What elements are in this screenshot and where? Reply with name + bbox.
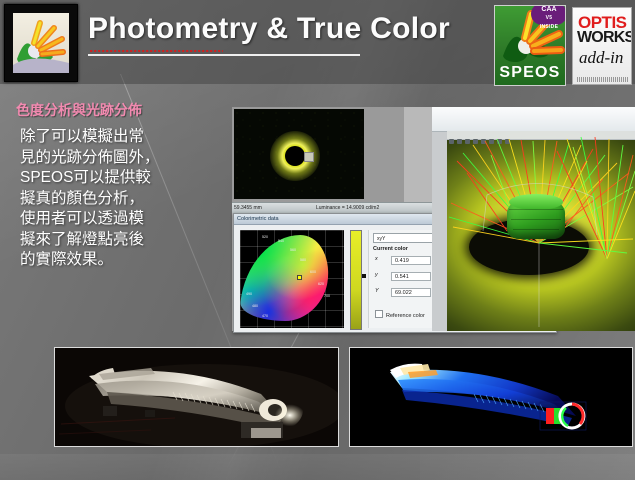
- current-color-label: Current color: [373, 246, 408, 252]
- led-dome-top: [509, 194, 563, 210]
- speos-wordmark: SPEOS: [495, 64, 565, 82]
- dome-facet: [511, 219, 561, 220]
- caa-badge-main: CAA: [541, 6, 556, 13]
- color-row-key: x: [375, 256, 378, 262]
- ray-pane-titlebar: [432, 107, 635, 132]
- body-line: 擬來了解燈點亮後: [20, 230, 205, 251]
- page-title: Photometry & True Color: [88, 12, 468, 46]
- color-space-value: xyY: [377, 236, 385, 242]
- caa-badge-sub: INSIDE: [531, 23, 566, 32]
- false-color-render-image: [350, 348, 632, 446]
- color-row-value[interactable]: 0.541: [391, 272, 431, 281]
- dome-facet: [509, 209, 563, 210]
- cie-wavelength-label: 490: [246, 292, 252, 296]
- cie-wavelength-label: 520: [262, 235, 268, 239]
- luminance-core: [285, 146, 305, 166]
- slide: Photometry & True Color SPEOS CAAV5INSID…: [0, 0, 635, 480]
- speos-logo: SPEOS CAAV5INSIDE: [494, 5, 566, 86]
- cie-wavelength-label: 700: [324, 294, 330, 298]
- luminance-false-color-view: [234, 109, 364, 199]
- cie-wavelength-label: 600: [310, 270, 316, 274]
- addin-wordmark: add-in: [579, 48, 623, 68]
- caa-badge-sup: V5: [531, 14, 566, 23]
- cie-wavelength-label: 580: [300, 258, 306, 262]
- speos-app-icon: [13, 13, 69, 73]
- speos-app-icon-glyph: [13, 13, 69, 73]
- status-position: 59.3455 mm: [234, 203, 262, 213]
- 3d-ray-trace-pane: [432, 107, 635, 331]
- checkbox-icon[interactable]: [375, 310, 383, 318]
- body-line: 使用者可以透過模: [20, 209, 205, 230]
- cie-wavelength-label: 620: [318, 282, 324, 286]
- optis-works-logo: OPTIS WORKS add-in: [572, 7, 632, 85]
- cie-wavelength-label: 470: [262, 314, 268, 318]
- optis-fineprint: [577, 77, 629, 82]
- body-line: 擬真的顏色分析，: [20, 189, 205, 210]
- true-color-render-image: [55, 348, 338, 446]
- luminance-pane: [232, 107, 404, 202]
- body-line: SPEOS可以提供較: [20, 168, 205, 189]
- section-subheading: 色度分析與光跡分佈: [16, 100, 142, 120]
- status-measurement: Luminance = 14.9009 cd/m2: [316, 203, 379, 213]
- false-color-luminance-render: [349, 347, 633, 447]
- body-line: 除了可以模擬出常: [20, 127, 205, 148]
- spellcheck-squiggle: [90, 49, 223, 52]
- reference-color-label: Reference color: [386, 313, 425, 319]
- scale-marker: [362, 274, 366, 278]
- dome-facet: [513, 229, 559, 230]
- body-text: 除了可以模擬出常 見的光跡分佈圖外， SPEOS可以提供較 擬真的顏色分析， 使…: [20, 127, 205, 271]
- slide-bottom-edge: [0, 454, 635, 480]
- title-underline: [88, 54, 360, 56]
- body-line: 見的光跡分佈圖外，: [20, 148, 205, 169]
- true-color-render: [54, 347, 339, 447]
- works-wordmark: WORKS: [577, 29, 632, 47]
- software-screenshot: 59.3455 mm Luminance = 14.9009 cd/m2 Fil…: [232, 107, 635, 331]
- caa-v5-badge: CAAV5INSIDE: [531, 5, 566, 25]
- cie-wavelength-label: 560: [290, 248, 296, 252]
- color-row-key: y: [375, 272, 378, 278]
- cie-wavelength-label: 540: [278, 239, 284, 243]
- dialog-title: Colorimetric data: [237, 216, 279, 222]
- cie-wavelength-label: 480: [252, 304, 258, 308]
- measurement-marker: [304, 152, 314, 162]
- app-icon-frame: [4, 4, 78, 82]
- current-color-point: [297, 275, 302, 280]
- color-row-value[interactable]: 0.419: [391, 256, 431, 265]
- color-row-key: Y: [375, 288, 379, 294]
- body-line: 的實際效果。: [20, 250, 205, 271]
- 3d-ray-trace-view[interactable]: [447, 131, 635, 331]
- reference-color-checkbox[interactable]: Reference color: [375, 310, 425, 319]
- luminance-scale-bar: [350, 230, 362, 330]
- cie-chromaticity-diagram[interactable]: 520 540 560 580 600 620 700 490 480 470: [240, 230, 344, 328]
- color-row-value[interactable]: 69.022: [391, 288, 431, 297]
